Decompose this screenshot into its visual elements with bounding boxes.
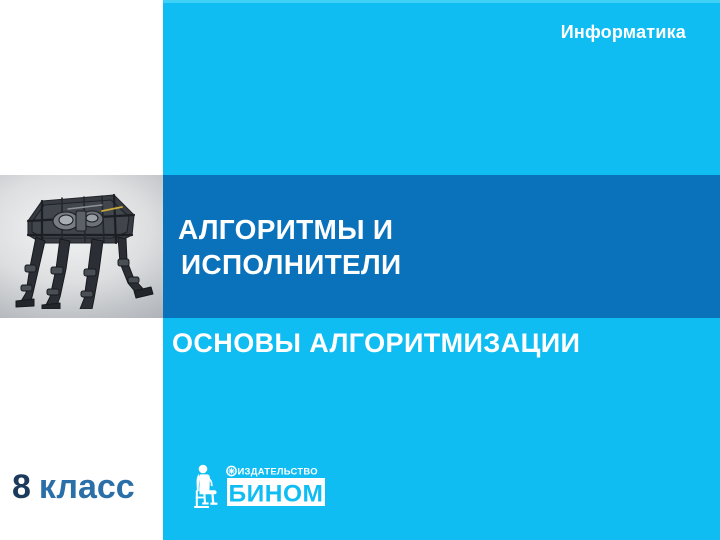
page-title: АЛГОРИТМЫ И ИСПОЛНИТЕЛИ xyxy=(178,212,708,283)
page-subtitle: ОСНОВЫ АЛГОРИТМИЗАЦИИ xyxy=(172,328,580,359)
subject-label: Информатика xyxy=(561,22,686,43)
seated-person-silhouette xyxy=(194,465,217,508)
quadruped-robot-icon xyxy=(6,181,156,309)
publisher-kicker: ИЗДАТЕЛЬСТВО xyxy=(238,466,318,477)
grade-label: 8класс xyxy=(12,468,135,507)
page-title-line-1: АЛГОРИТМЫ И xyxy=(178,212,708,247)
cyan-top-edge-accent xyxy=(163,0,720,3)
publisher-kicker-group: ИЗДАТЕЛЬСТВО xyxy=(227,466,318,477)
page-title-line-2: ИСПОЛНИТЕЛИ xyxy=(181,247,708,282)
grade-word: класс xyxy=(39,468,135,506)
binom-publisher-logo-icon: ИЗДАТЕЛЬСТВО БИНОМ xyxy=(186,462,331,516)
slide: Информатика АЛГОРИТМЫ И ИСПОЛНИТЕЛИ ОСНО… xyxy=(0,0,720,540)
publisher-logo: ИЗДАТЕЛЬСТВО БИНОМ xyxy=(186,462,331,516)
publisher-name-group: БИНОМ xyxy=(227,478,325,507)
publisher-name: БИНОМ xyxy=(229,480,324,507)
grade-number: 8 xyxy=(12,468,31,506)
robot-illustration-panel xyxy=(0,175,163,318)
